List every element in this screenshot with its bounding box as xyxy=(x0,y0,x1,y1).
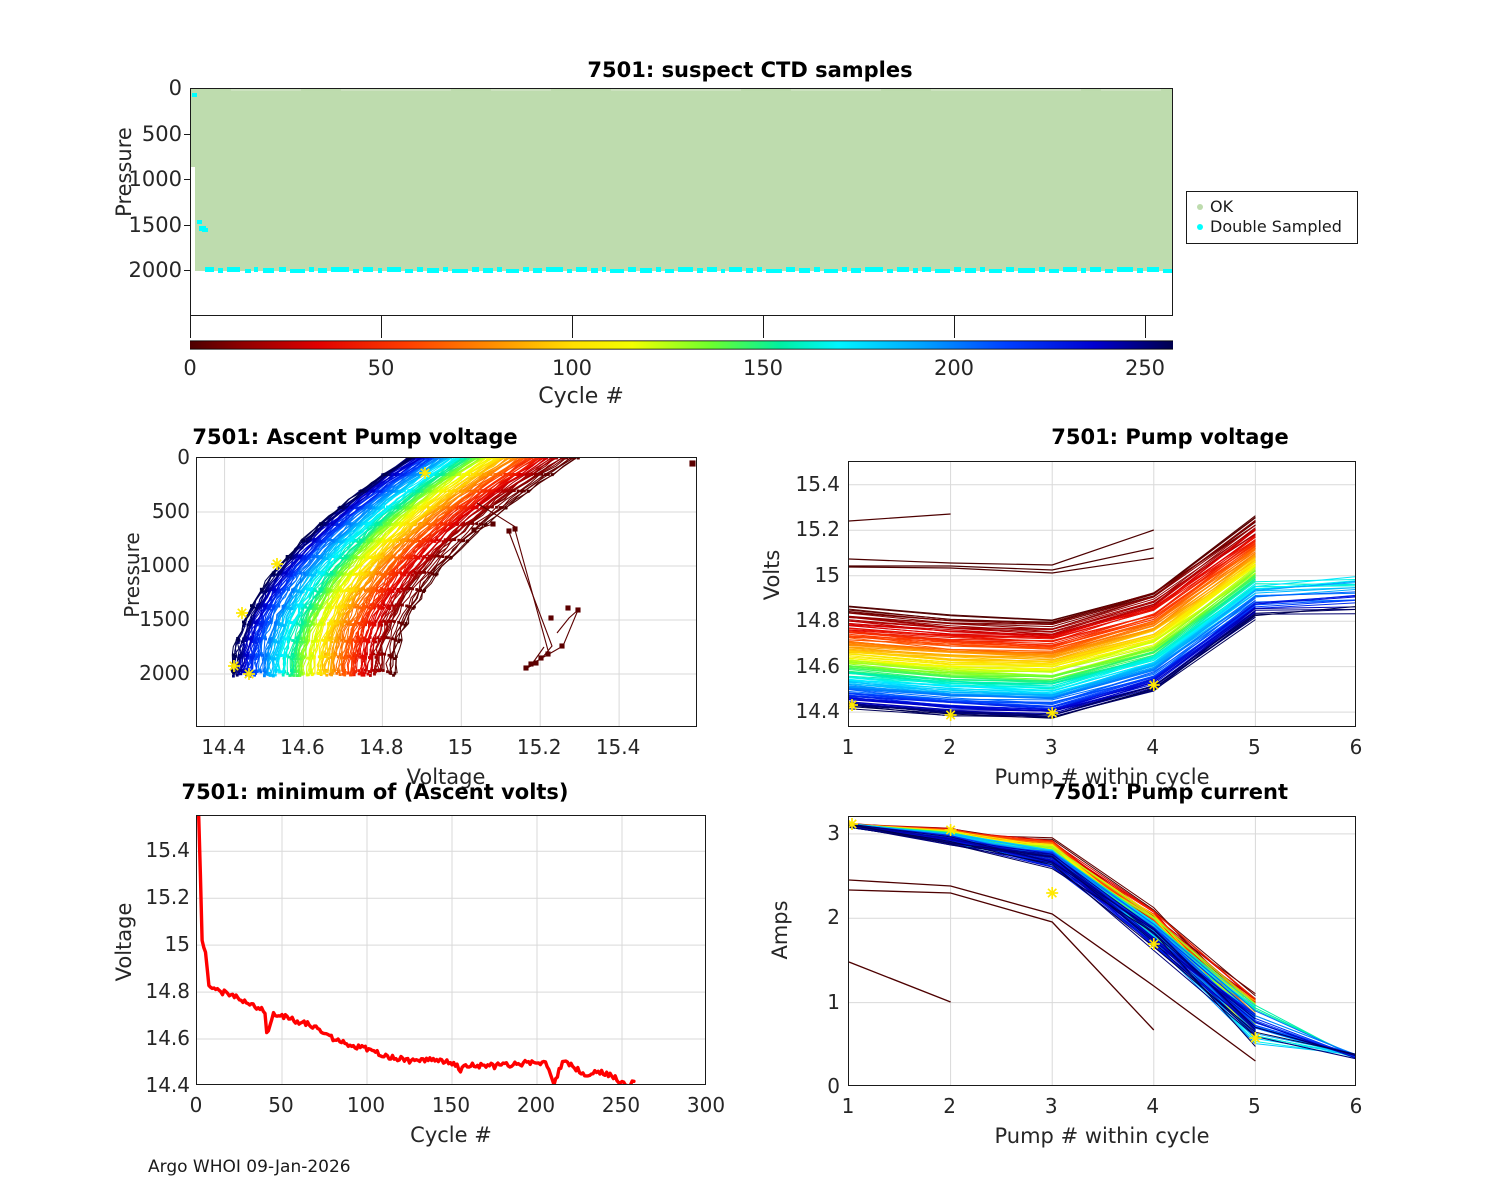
ctd-ytickmark-1500 xyxy=(184,225,191,226)
ctd-ylabel: Pressure xyxy=(112,92,136,252)
pumpvolt-xtick-2: 2 xyxy=(943,735,956,759)
minvolts-ytick-146: 14.6 xyxy=(124,1026,190,1050)
pumpcur-ytick-3: 3 xyxy=(780,821,840,845)
panel-pump-current: 7501: Pump current xyxy=(760,770,1500,1140)
pumpcur-xtick-2: 2 xyxy=(943,1094,956,1118)
pumpcur-xlabel: Pump # within cycle xyxy=(902,1124,1302,1148)
pumpcur-xtick-6: 6 xyxy=(1350,1094,1363,1118)
pumpvolt-ytick-144: 14.4 xyxy=(768,699,840,723)
pumpvolt-ytick-154: 15.4 xyxy=(768,472,840,496)
ctd-xlabel: Cycle # xyxy=(481,384,681,409)
argo-float-diagnostic-figure: 7501: suspect CTD samples xyxy=(0,0,1500,1200)
ascent-xtick-148: 14.8 xyxy=(359,735,404,759)
axes-pump-voltage xyxy=(848,461,1356,727)
panel-suspect-ctd-samples: 7501: suspect CTD samples xyxy=(0,0,1500,400)
ctd-xtickmark-250 xyxy=(1145,316,1146,338)
ctd-sample-scatter xyxy=(191,89,1173,316)
ctd-xtick-50: 50 xyxy=(368,356,395,380)
minvolts-ytick-144: 14.4 xyxy=(124,1073,190,1097)
minvolts-xtick-50: 50 xyxy=(268,1093,293,1117)
pumpcur-xtick-5: 5 xyxy=(1248,1094,1261,1118)
panel-title-pumpcur: 7501: Pump current xyxy=(700,780,1500,804)
minvolts-ytick-154: 15.4 xyxy=(124,838,190,862)
panel-pump-voltage: 7501: Pump voltage xyxy=(760,415,1500,760)
ascent-xtick-146: 14.6 xyxy=(280,735,325,759)
panel-ascent-pump-voltage: 7501: Ascent Pump voltage xyxy=(0,415,740,760)
minvolts-xtick-200: 200 xyxy=(517,1093,555,1117)
ctd-xtick-200: 200 xyxy=(934,356,974,380)
axes-min-ascent-volts xyxy=(196,815,706,1085)
cycle-colorbar-strip xyxy=(190,338,1173,352)
ascent-voltage-profiles xyxy=(197,458,697,727)
pump-voltage-traces xyxy=(849,462,1356,727)
ctd-xtickmark-0 xyxy=(190,316,191,338)
pumpcur-ylabel: Amps xyxy=(768,860,792,1000)
pumpcur-ytick-0: 0 xyxy=(780,1074,840,1098)
legend-dot-ok-icon xyxy=(1197,204,1203,210)
panel-title-pumpvolt: 7501: Pump voltage xyxy=(700,425,1500,449)
minvolts-xtick-300: 300 xyxy=(687,1093,725,1117)
ctd-ytickmark-2000 xyxy=(184,270,191,271)
legend-item-double-sampled[interactable]: Double Sampled xyxy=(1193,217,1349,237)
ctd-xtick-250: 250 xyxy=(1125,356,1165,380)
ctd-ytick-2000: 2000 xyxy=(120,258,182,282)
panel-title-ctd: 7501: suspect CTD samples xyxy=(0,58,1500,82)
pumpvolt-xtick-5: 5 xyxy=(1248,735,1261,759)
panel-min-ascent-volts: 7501: minimum of (Ascent volts) xyxy=(0,770,740,1140)
ctd-legend: OK Double Sampled xyxy=(1186,191,1358,244)
ascent-xtick-144: 14.4 xyxy=(201,735,246,759)
ascent-ylabel: Pressure xyxy=(120,495,144,655)
legend-label-ok: OK xyxy=(1210,197,1233,217)
ascent-xtick-152: 15.2 xyxy=(517,735,562,759)
ctd-ytickmark-500 xyxy=(184,134,191,135)
ctd-xtickmark-200 xyxy=(954,316,955,338)
ascent-xtick-154: 15.4 xyxy=(596,735,641,759)
pumpvolt-xtick-3: 3 xyxy=(1045,735,1058,759)
minvolts-xlabel: Cycle # xyxy=(331,1123,571,1147)
pumpcur-xtick-1: 1 xyxy=(842,1094,855,1118)
ctd-xtickmark-50 xyxy=(381,316,382,338)
legend-label-double-sampled: Double Sampled xyxy=(1210,217,1342,237)
pumpvolt-xtick-1: 1 xyxy=(842,735,855,759)
pumpvolt-ylabel: Volts xyxy=(760,515,784,635)
minvolts-ylabel: Voltage xyxy=(112,862,136,1022)
ctd-xtickmark-150 xyxy=(763,316,764,338)
figure-footer: Argo WHOI 09-Jan-2026 xyxy=(148,1157,351,1177)
pumpvolt-ytick-146: 14.6 xyxy=(768,654,840,678)
pump-current-traces xyxy=(849,817,1356,1086)
pumpvolt-xtick-6: 6 xyxy=(1350,735,1363,759)
axes-ctd-samples xyxy=(190,88,1173,316)
ctd-xtick-150: 150 xyxy=(743,356,783,380)
minvolts-xtick-250: 250 xyxy=(602,1093,640,1117)
pumpvolt-xtick-4: 4 xyxy=(1146,735,1159,759)
legend-item-ok[interactable]: OK xyxy=(1193,197,1349,217)
ascent-xtick-15: 15 xyxy=(448,735,473,759)
ctd-xtickmark-100 xyxy=(572,316,573,338)
pumpcur-xtick-3: 3 xyxy=(1045,1094,1058,1118)
minvolts-xtick-150: 150 xyxy=(432,1093,470,1117)
ctd-xtick-0: 0 xyxy=(183,356,196,380)
axes-pump-current xyxy=(848,816,1356,1086)
ascent-ytick-0: 0 xyxy=(128,445,190,469)
minvolts-xtick-100: 100 xyxy=(347,1093,385,1117)
ascent-ytick-2000: 2000 xyxy=(128,661,190,685)
pumpcur-xtick-4: 4 xyxy=(1146,1094,1159,1118)
axes-ascent-pump-voltage xyxy=(196,457,697,727)
legend-dot-double-sampled-icon xyxy=(1197,224,1203,230)
ctd-xtick-100: 100 xyxy=(552,356,592,380)
ctd-ytickmark-1000 xyxy=(184,179,191,180)
min-ascent-volts-trace xyxy=(197,816,706,1085)
pumpvolt-early-traces xyxy=(849,514,1154,573)
minvolts-xtick-0: 0 xyxy=(190,1093,203,1117)
